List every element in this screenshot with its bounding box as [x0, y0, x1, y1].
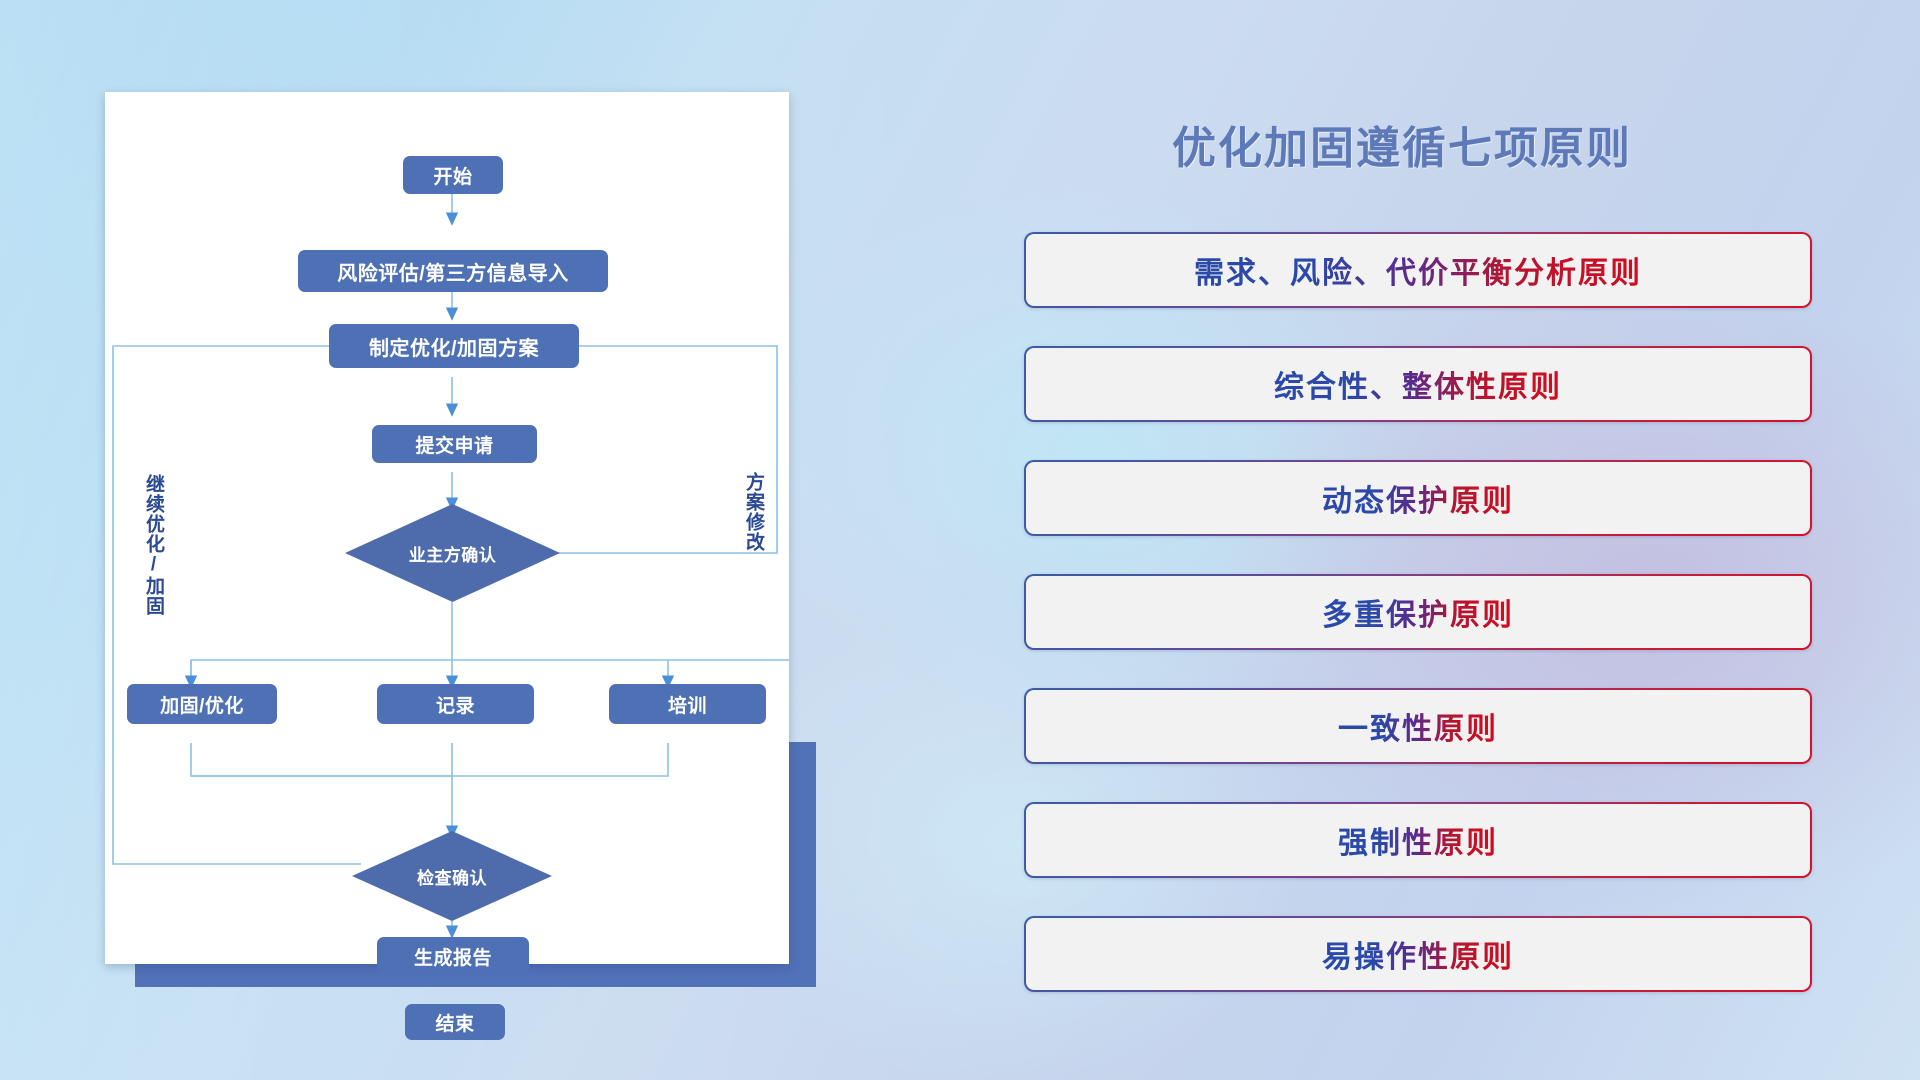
principle-item[interactable]: 综合性、整体性原则: [1024, 346, 1812, 422]
principle-item-inner: 综合性、整体性原则: [1026, 348, 1810, 420]
flow-node-end[interactable]: 结束: [405, 1004, 505, 1040]
flow-node-label: 生成报告: [414, 943, 492, 970]
flow-edge-label-plan-revision: 方案修改: [744, 472, 763, 552]
flow-node-label: 记录: [436, 691, 475, 718]
principles-panel-title: 优化加固遵循七项原则: [1022, 112, 1782, 176]
principle-item[interactable]: 动态保护原则: [1024, 460, 1812, 536]
principle-item-label: 综合性、整体性原则: [1274, 362, 1562, 406]
flow-node-label: 培训: [668, 691, 707, 718]
principle-item-inner: 多重保护原则: [1026, 576, 1810, 648]
flow-node-label: 风险评估/第三方信息导入: [337, 257, 569, 286]
principle-item-inner: 一致性原则: [1026, 690, 1810, 762]
principle-item[interactable]: 易操作性原则: [1024, 916, 1812, 992]
principle-item-label: 易操作性原则: [1322, 932, 1514, 976]
flow-node-make-plan[interactable]: 制定优化/加固方案: [329, 324, 579, 368]
flow-node-label: 检查确认: [417, 864, 487, 889]
flow-node-label: 结束: [435, 1009, 474, 1036]
flow-node-inspection-confirm[interactable]: 检查确认: [352, 831, 552, 921]
flow-node-training[interactable]: 培训: [609, 684, 766, 724]
flow-node-owner-confirm[interactable]: 业主方确认: [345, 504, 560, 602]
flow-node-label: 加固/优化: [160, 691, 244, 718]
flow-node-start[interactable]: 开始: [403, 156, 503, 194]
principle-item-label: 动态保护原则: [1322, 476, 1514, 520]
flow-node-reinforce-optimize[interactable]: 加固/优化: [127, 684, 277, 724]
principle-item-label: 需求、风险、代价平衡分析原则: [1194, 248, 1642, 292]
principle-item-inner: 动态保护原则: [1026, 462, 1810, 534]
principles-list: 需求、风险、代价平衡分析原则 综合性、整体性原则 动态保护原则 多重保护原则 一…: [1024, 232, 1812, 1030]
principle-item-inner: 易操作性原则: [1026, 918, 1810, 990]
principle-item[interactable]: 多重保护原则: [1024, 574, 1812, 650]
flow-node-label: 制定优化/加固方案: [369, 332, 539, 361]
flow-node-label: 提交申请: [415, 431, 493, 458]
flow-node-generate-report[interactable]: 生成报告: [377, 937, 529, 975]
principle-item[interactable]: 一致性原则: [1024, 688, 1812, 764]
principle-item-inner: 强制性原则: [1026, 804, 1810, 876]
flow-node-label: 开始: [433, 162, 472, 189]
flow-edge-label-continue-optimize: 继续优化/加固: [144, 474, 163, 616]
flowchart-card: 开始 风险评估/第三方信息导入 制定优化/加固方案 提交申请 业主方确认 加固/…: [105, 92, 789, 964]
principle-item[interactable]: 强制性原则: [1024, 802, 1812, 878]
flow-node-risk-assessment[interactable]: 风险评估/第三方信息导入: [298, 250, 608, 292]
principle-item-label: 多重保护原则: [1322, 590, 1514, 634]
principle-item-label: 强制性原则: [1338, 818, 1498, 862]
flow-node-record[interactable]: 记录: [377, 684, 534, 724]
principle-item-label: 一致性原则: [1338, 704, 1498, 748]
flow-node-submit-application[interactable]: 提交申请: [372, 425, 537, 463]
principle-item[interactable]: 需求、风险、代价平衡分析原则: [1024, 232, 1812, 308]
flow-node-label: 业主方确认: [409, 541, 497, 566]
principle-item-inner: 需求、风险、代价平衡分析原则: [1026, 234, 1810, 306]
